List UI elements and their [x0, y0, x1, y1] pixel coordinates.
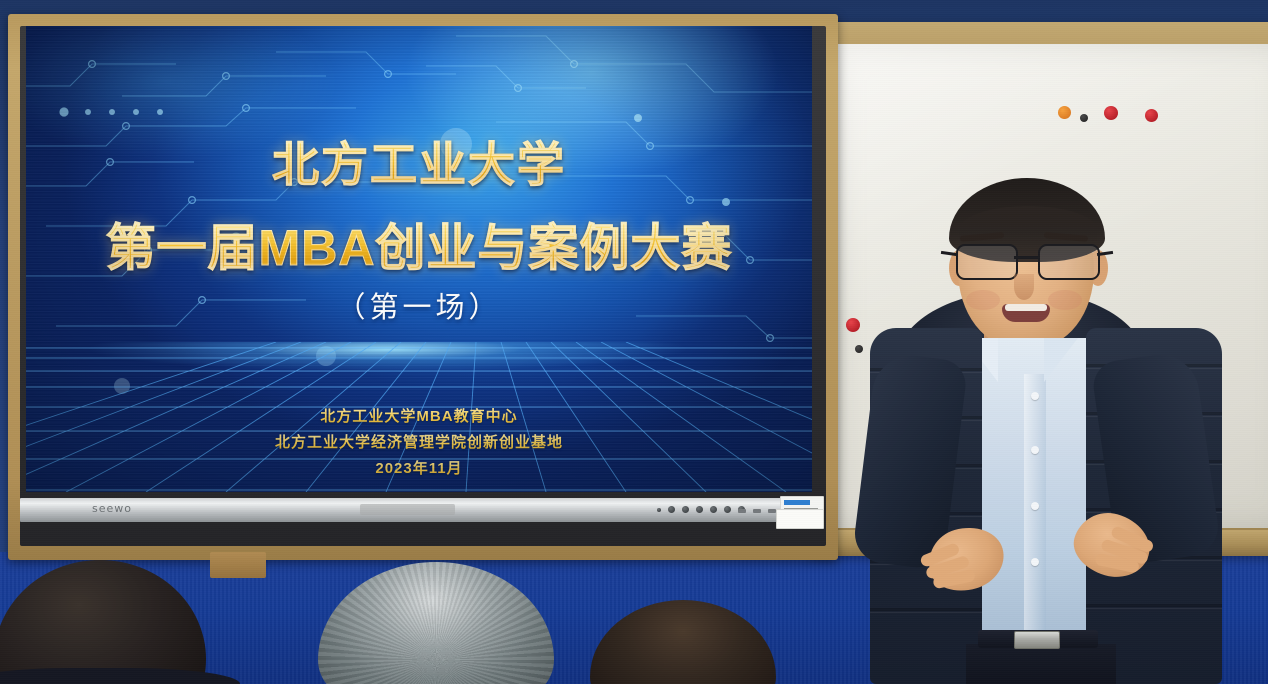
cheek-right — [1048, 290, 1082, 310]
presenter — [836, 178, 1268, 684]
hdmi-port-icon[interactable] — [768, 509, 776, 513]
frame-mount-block — [210, 552, 266, 578]
display-button-1[interactable] — [668, 506, 675, 513]
display-button-3[interactable] — [696, 506, 703, 513]
belt-buckle — [1014, 631, 1060, 649]
shirt-collar-right — [1044, 338, 1078, 382]
magnet-red-2 — [1145, 109, 1158, 122]
mouth — [1002, 304, 1050, 322]
shirt-button-2 — [1031, 446, 1039, 454]
device-sticker-bottom — [776, 509, 824, 529]
power-led-icon — [657, 508, 661, 512]
usb-port-1-icon[interactable] — [738, 509, 746, 513]
glasses-lens-left — [956, 244, 1018, 280]
display-button-row[interactable] — [657, 506, 745, 513]
display-button-4[interactable] — [710, 506, 717, 513]
display-bottom-bezel: seewo — [20, 498, 818, 522]
cheek-left — [966, 290, 1000, 310]
ir-sensor-strip — [360, 504, 455, 515]
magnet-black-small — [1080, 114, 1088, 122]
shirt-button-4 — [1031, 558, 1039, 566]
magnet-red-1 — [1104, 106, 1118, 120]
interactive-display-screen[interactable]: 北方工业大学 第一届MBA创业与案例大赛 （第一场） 北方工业大学MBA教育中心… — [26, 26, 812, 492]
display-port-row[interactable] — [738, 509, 776, 513]
display-button-2[interactable] — [682, 506, 689, 513]
shirt-button-1 — [1031, 392, 1039, 400]
glasses-lens-right — [1038, 244, 1100, 280]
glasses-bridge — [1014, 256, 1040, 259]
nose — [1014, 274, 1034, 300]
display-button-5[interactable] — [724, 506, 731, 513]
shirt-button-3 — [1031, 502, 1039, 510]
trousers — [966, 644, 1116, 684]
glasses-icon — [954, 244, 1100, 278]
glasses-temple-left — [941, 251, 957, 256]
magnet-orange — [1058, 106, 1071, 119]
usb-port-2-icon[interactable] — [753, 509, 761, 513]
screen-vignette — [26, 26, 812, 492]
seewo-brand-label: seewo — [92, 502, 132, 515]
lecture-room-photo: 北方工业大学 第一届MBA创业与案例大赛 （第一场） 北方工业大学MBA教育中心… — [0, 0, 1268, 684]
